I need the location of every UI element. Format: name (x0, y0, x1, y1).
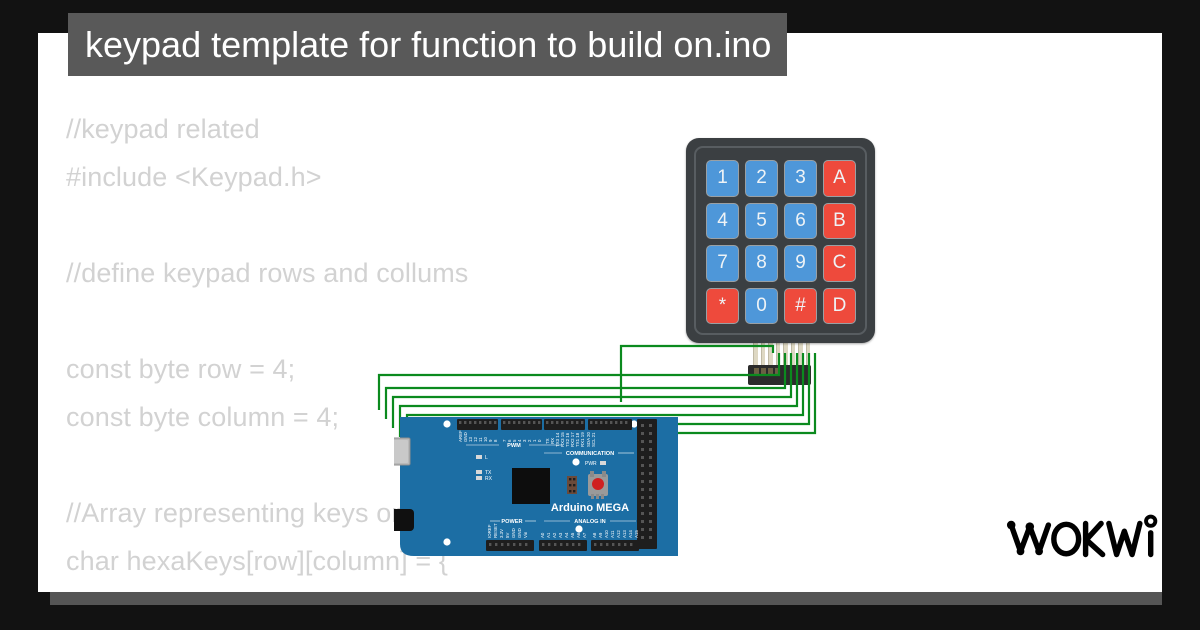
svg-text:A15: A15 (634, 530, 639, 538)
keypad-key-star[interactable]: * (706, 288, 739, 325)
svg-text:A1: A1 (546, 532, 551, 538)
keypad-pin-header (748, 365, 811, 385)
svg-text:A12: A12 (616, 530, 621, 538)
code-line (66, 297, 1066, 345)
svg-text:A0: A0 (540, 532, 545, 538)
keypad-key-5[interactable]: 5 (745, 203, 778, 240)
svg-text:L: L (485, 455, 488, 461)
keypad-key-3[interactable]: 3 (784, 160, 817, 197)
svg-text:A2: A2 (552, 532, 557, 538)
wokwi-logo (1005, 508, 1160, 570)
svg-text:Arduino MEGA: Arduino MEGA (551, 502, 629, 514)
keypad-key-hash[interactable]: # (784, 288, 817, 325)
svg-text:RX1 19: RX1 19 (580, 432, 585, 447)
svg-text:A10: A10 (604, 530, 609, 538)
page-title: keypad template for function to build on… (85, 25, 771, 65)
keypad-key-7[interactable]: 7 (706, 245, 739, 282)
keypad-key-0[interactable]: 0 (745, 288, 778, 325)
code-line: const byte row = 4; (66, 345, 1066, 393)
svg-text:3.3V: 3.3V (499, 529, 504, 538)
svg-text:PWM: PWM (507, 443, 521, 449)
svg-text:PWR: PWR (585, 461, 597, 467)
keypad-key-C[interactable]: C (823, 245, 856, 282)
svg-text:A3: A3 (558, 532, 563, 538)
svg-text:A4: A4 (564, 532, 569, 538)
svg-text:COMMUNICATION: COMMUNICATION (566, 451, 614, 457)
svg-text:SCL 21: SCL 21 (591, 432, 596, 447)
svg-text:A9: A9 (598, 532, 603, 538)
svg-text:A11: A11 (610, 530, 615, 538)
code-line: //define keypad rows and collums (66, 249, 1066, 297)
title-banner: keypad template for function to build on… (68, 13, 787, 76)
keypad-key-2[interactable]: 2 (745, 160, 778, 197)
svg-text:POWER: POWER (501, 519, 522, 525)
keypad-key-6[interactable]: 6 (784, 203, 817, 240)
code-line: //keypad related (66, 105, 1066, 153)
svg-text:A6: A6 (576, 532, 581, 538)
code-line: #include <Keypad.h> (66, 153, 1066, 201)
svg-text:A13: A13 (622, 530, 627, 538)
svg-text:RESET: RESET (493, 523, 498, 538)
svg-text:A5: A5 (570, 532, 575, 538)
code-line (66, 201, 1066, 249)
keypad-key-4[interactable]: 4 (706, 203, 739, 240)
svg-text:GND: GND (511, 528, 516, 538)
arduino-mega-board[interactable]: AREF GND 13 12 11 10 9 8 7 6 5 4 3 2 1 0 (394, 414, 682, 560)
svg-text:ANALOG IN: ANALOG IN (574, 519, 605, 525)
keypad-key-8[interactable]: 8 (745, 245, 778, 282)
keypad-component[interactable]: 123A456B789C*0#D (686, 138, 875, 343)
svg-text:A14: A14 (628, 530, 633, 538)
keypad-key-D[interactable]: D (823, 288, 856, 325)
svg-text:A8: A8 (592, 532, 597, 538)
svg-text:GND: GND (517, 528, 522, 538)
code-line: {'1','2','3','A'}, (66, 585, 1066, 592)
svg-text:5V: 5V (505, 533, 510, 538)
keypad-key-9[interactable]: 9 (784, 245, 817, 282)
keypad-key-B[interactable]: B (823, 203, 856, 240)
svg-text:A7: A7 (582, 532, 587, 538)
keypad-key-A[interactable]: A (823, 160, 856, 197)
svg-text:IOREF: IOREF (487, 524, 492, 538)
keypad-key-grid: 123A456B789C*0#D (706, 160, 856, 324)
screenshot-stage: //keypad related#include <Keypad.h>//def… (0, 0, 1200, 630)
content-panel: //keypad related#include <Keypad.h>//def… (38, 33, 1162, 592)
svg-text:RX: RX (485, 476, 493, 482)
keypad-key-1[interactable]: 1 (706, 160, 739, 197)
svg-text:Vin: Vin (523, 531, 528, 538)
